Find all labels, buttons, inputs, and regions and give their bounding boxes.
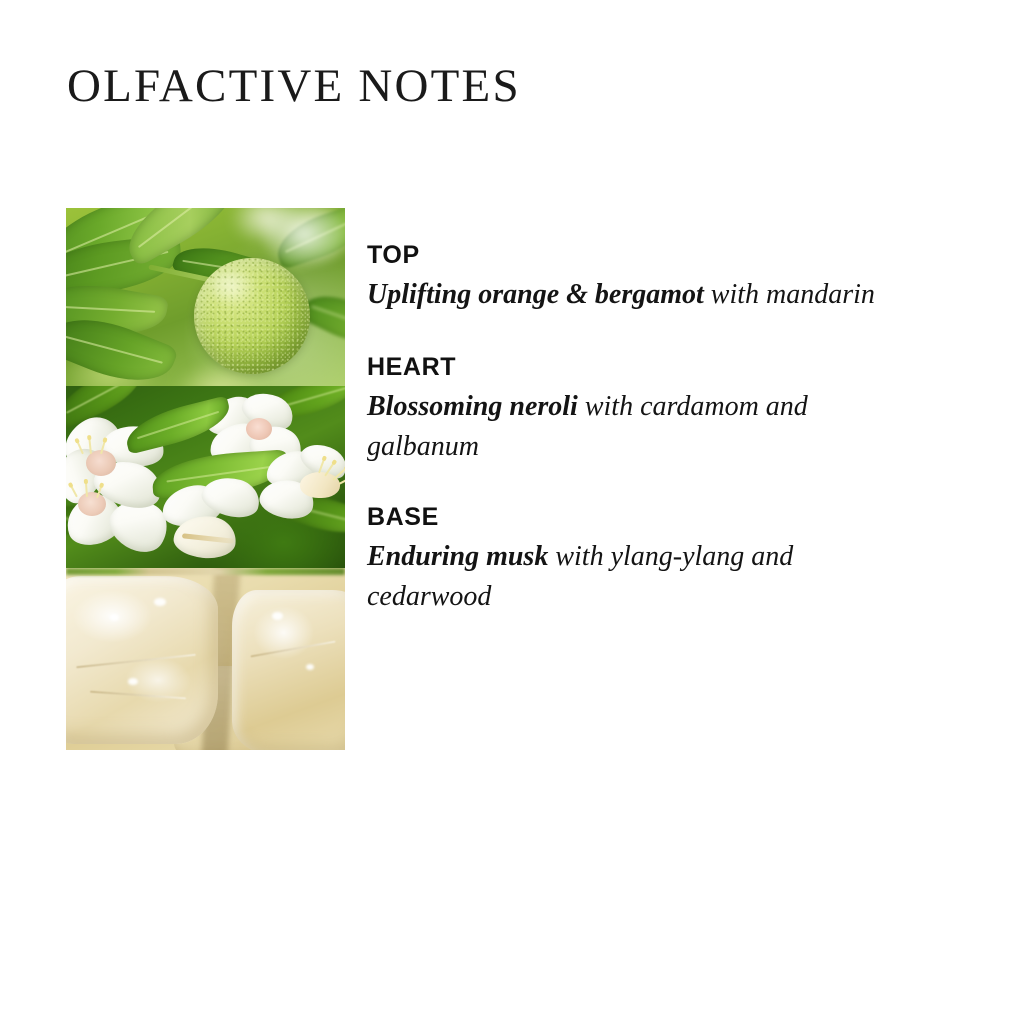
bergamot-peel-texture [194,258,310,374]
resin-sparkle [306,664,314,670]
note-emphasis-top: Uplifting orange & bergamot [367,279,704,310]
note-block-heart: HEART Blossoming neroli with cardamom an… [367,352,887,466]
note-label-base: BASE [367,502,887,533]
note-rest-top: with mandarin [704,279,875,310]
note-block-top: TOP Uplifting orange & bergamot with man… [367,240,887,314]
note-label-heart: HEART [367,352,887,383]
neroli-flower-open [266,446,345,534]
resin-sparkle [128,678,138,685]
resin-sparkle [272,612,283,620]
resin-sparkle [110,614,119,621]
resin-facet-texture [66,568,345,750]
flower-center [78,492,106,516]
note-description-heart: Blossoming neroli with cardamom and galb… [367,387,887,467]
flower-center [246,418,272,440]
note-emphasis-heart: Blossoming neroli [367,391,578,422]
bergamot-highlight [212,272,258,306]
note-block-base: BASE Enduring musk with ylang-ylang and … [367,502,887,616]
olfactive-notes-list: TOP Uplifting orange & bergamot with man… [367,240,887,616]
resin-top-edge-blend [66,568,345,575]
olfactive-notes-page: OLFACTIVE NOTES [0,0,1024,1024]
note-image-base [66,568,345,750]
note-image-top [66,208,345,386]
ingredient-image-stack [66,208,345,750]
citrus-blossom-bokeh [262,208,345,266]
neroli-flower-bud [162,478,272,568]
page-title: OLFACTIVE NOTES [67,62,521,111]
note-emphasis-base: Enduring musk [367,541,548,572]
note-image-heart [66,386,345,568]
resin-sparkle [154,598,166,606]
note-description-top: Uplifting orange & bergamot with mandari… [367,275,887,315]
note-label-top: TOP [367,240,887,271]
note-description-base: Enduring musk with ylang-ylang and cedar… [367,537,887,617]
